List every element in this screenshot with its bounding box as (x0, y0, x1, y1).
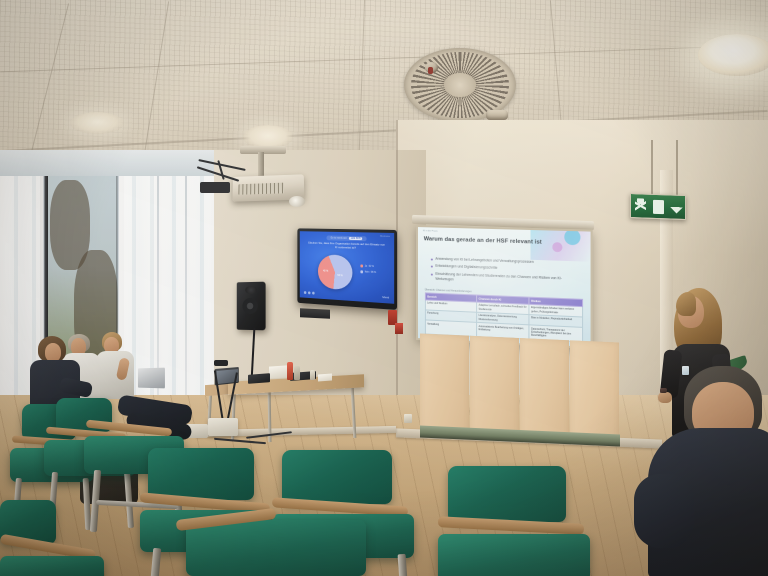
chair-backrest (282, 450, 392, 504)
presenter-remote[interactable] (660, 388, 667, 393)
torso (96, 351, 134, 399)
wall-panel (420, 333, 469, 435)
legend-label: Nein (365, 270, 370, 273)
curtain-track (0, 150, 214, 176)
legend-label: Ja (365, 265, 367, 268)
chair-seat (0, 556, 104, 576)
presenter-hair-front (676, 292, 696, 316)
projector-lens (289, 196, 305, 207)
legend-swatch (361, 265, 364, 268)
emergency-exit-sign (630, 193, 686, 220)
equipment-case (248, 373, 270, 384)
water-bottle[interactable] (287, 362, 293, 380)
chair-seat (186, 520, 366, 576)
pager-dot[interactable] (312, 292, 314, 295)
poll-brand-label: Menti (382, 296, 389, 300)
exit-sign-rod (651, 140, 653, 196)
legend-value: 42 % (369, 265, 374, 268)
water-bottle[interactable] (294, 366, 300, 380)
audience-laptop[interactable] (138, 368, 165, 389)
poll-join-code: 1234 5678 (349, 236, 363, 239)
wall-loudspeaker (237, 282, 266, 331)
tv-screen[interactable]: Go to menti.com 1234 5678 Glauben Sie, d… (300, 231, 394, 304)
cable (200, 182, 230, 193)
legend-entry: Ja 42 % (361, 265, 376, 269)
sprinkler-head (425, 62, 438, 73)
papers-on-table[interactable] (269, 365, 287, 378)
cable (197, 166, 239, 181)
equipment-box-on-floor (208, 418, 238, 436)
poll-join-banner: Go to menti.com 1234 5678 (327, 235, 367, 241)
ceiling-light (698, 34, 768, 76)
chair-backrest (148, 448, 254, 500)
poll-pie-chart: 42 % 58 % (318, 254, 352, 290)
drinking-cup[interactable] (310, 370, 315, 380)
slide-surface: KI in der Praxis Warum das gerade an der… (418, 227, 591, 347)
slide-bullet-list: Anwendung von KI bei Lehrangeboten und V… (431, 256, 572, 289)
wall-power-socket[interactable] (404, 414, 412, 423)
legend-value: 58 % (371, 270, 376, 273)
exit-arrow-icon (670, 201, 683, 214)
tripod-head (214, 360, 228, 366)
smoke-detector (486, 110, 508, 120)
legend-swatch (361, 270, 364, 273)
wall-television[interactable]: Go to menti.com 1234 5678 Glauben Sie, d… (297, 228, 397, 310)
fire-alarm-box[interactable] (395, 323, 403, 334)
pager-dot[interactable] (304, 292, 306, 295)
projector-cables (196, 160, 254, 202)
exit-sign-rod (676, 140, 678, 198)
attendee-arm (634, 474, 694, 548)
name-badge (682, 366, 689, 375)
slide-decorative-graphic (530, 230, 590, 262)
wall-panel (570, 340, 619, 442)
slide-eyebrow: KI in der Praxis (423, 231, 438, 233)
chair-seat (438, 534, 590, 576)
ceiling-light (70, 112, 124, 134)
papers-on-table[interactable] (318, 374, 332, 382)
pager-dot[interactable] (308, 292, 310, 295)
slide-bullet: Einschätzung der Lehrenden und Studieren… (431, 271, 572, 286)
poll-join-text: Go to menti.com (331, 236, 347, 239)
exit-door-icon (653, 199, 664, 213)
presenter-hand (658, 392, 672, 403)
pie-slice-label: 42 % (323, 269, 328, 272)
poll-question: Glauben Sie, dass Ihre Organisation bere… (307, 242, 386, 252)
room-photo-scene: Go to menti.com 1234 5678 Glauben Sie, d… (0, 0, 768, 576)
poll-legend: Ja 42 % Nein 58 % (361, 265, 376, 276)
chair-backrest (448, 466, 566, 522)
wall-panel (520, 338, 569, 440)
running-person-icon (635, 198, 646, 213)
poll-corner-note: Mentimeter (380, 235, 390, 237)
tv-wall-mount (300, 308, 330, 319)
wall-panel (470, 336, 519, 438)
pie-slice-label: 58 % (337, 274, 342, 277)
legend-entry: Nein 58 % (361, 270, 376, 274)
poll-pager-dots[interactable] (304, 292, 314, 295)
projection-screen: KI in der Praxis Warum das gerade an der… (416, 225, 593, 349)
